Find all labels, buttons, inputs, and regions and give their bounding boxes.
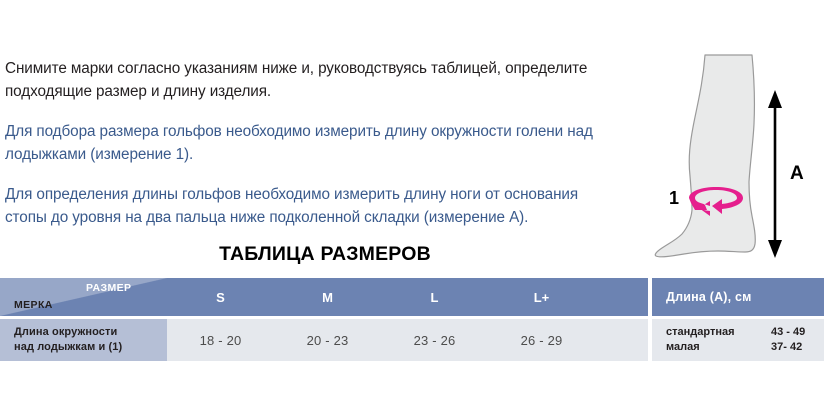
- length-arrow-label: А: [790, 163, 804, 184]
- size-column-header-l: L: [381, 278, 488, 316]
- circumference-marker-label: 1: [669, 188, 679, 208]
- length-panel-header-label: Длина (А), см: [666, 290, 752, 304]
- size-table-title: ТАБЛИЦА РАЗМЕРОВ: [0, 243, 650, 266]
- leg-illustration: 1 А: [650, 24, 824, 269]
- corner-size-label: РАЗМЕР: [86, 282, 131, 294]
- cell-circumference-lplus: 26 - 29: [488, 319, 595, 361]
- size-column-headers: S M L L+: [167, 278, 648, 316]
- cell-circumference-m: 20 - 23: [274, 319, 381, 361]
- row-label-line-1: Длина окружности: [14, 325, 167, 340]
- row-label-line-2: над лодыжкам и (1): [14, 340, 167, 355]
- row-label-circumference: Длина окружности над лодыжкам и (1): [0, 319, 167, 361]
- cell-circumference-l: 23 - 26: [381, 319, 488, 361]
- size-table-header-row: РАЗМЕР МЕРКА S M L L+: [0, 278, 648, 316]
- size-column-header-s: S: [167, 278, 274, 316]
- length-row-small-name: малая: [666, 340, 771, 355]
- instruction-paragraph-1: Снимите марки согласно указаниям ниже и,…: [5, 58, 620, 103]
- length-row-standard-value: 43 - 49: [771, 325, 805, 340]
- leg-silhouette-icon: [655, 55, 755, 257]
- size-column-header-lplus: L+: [488, 278, 595, 316]
- size-table: РАЗМЕР МЕРКА S M L L+ Длина окружности н…: [0, 278, 648, 361]
- size-column-header-m: M: [274, 278, 381, 316]
- size-guide-page: Снимите марки согласно указаниям ниже и,…: [0, 0, 824, 412]
- length-panel-header: Длина (А), см: [652, 278, 824, 316]
- instruction-paragraph-3: Для определения длины гольфов необходимо…: [5, 184, 620, 229]
- length-panel: Длина (А), см стандартная 43 - 49 малая …: [652, 278, 824, 361]
- length-panel-body: стандартная 43 - 49 малая 37- 42: [652, 319, 824, 361]
- length-measure-arrow-icon: [768, 90, 782, 258]
- instruction-paragraph-2: Для подбора размера гольфов необходимо и…: [5, 121, 620, 166]
- leg-diagram-svg: 1 А: [650, 24, 824, 269]
- length-row-standard: стандартная 43 - 49: [666, 325, 824, 340]
- corner-measure-label: МЕРКА: [14, 299, 53, 311]
- instructions-block: Снимите марки согласно указаниям ниже и,…: [5, 58, 620, 229]
- cell-circumference-s: 18 - 20: [167, 319, 274, 361]
- length-row-standard-name: стандартная: [666, 325, 771, 340]
- table-row: Длина окружности над лодыжкам и (1) 18 -…: [0, 319, 648, 361]
- length-row-small: малая 37- 42: [666, 340, 824, 355]
- row-values: 18 - 20 20 - 23 23 - 26 26 - 29: [167, 319, 648, 361]
- length-row-small-value: 37- 42: [771, 340, 802, 355]
